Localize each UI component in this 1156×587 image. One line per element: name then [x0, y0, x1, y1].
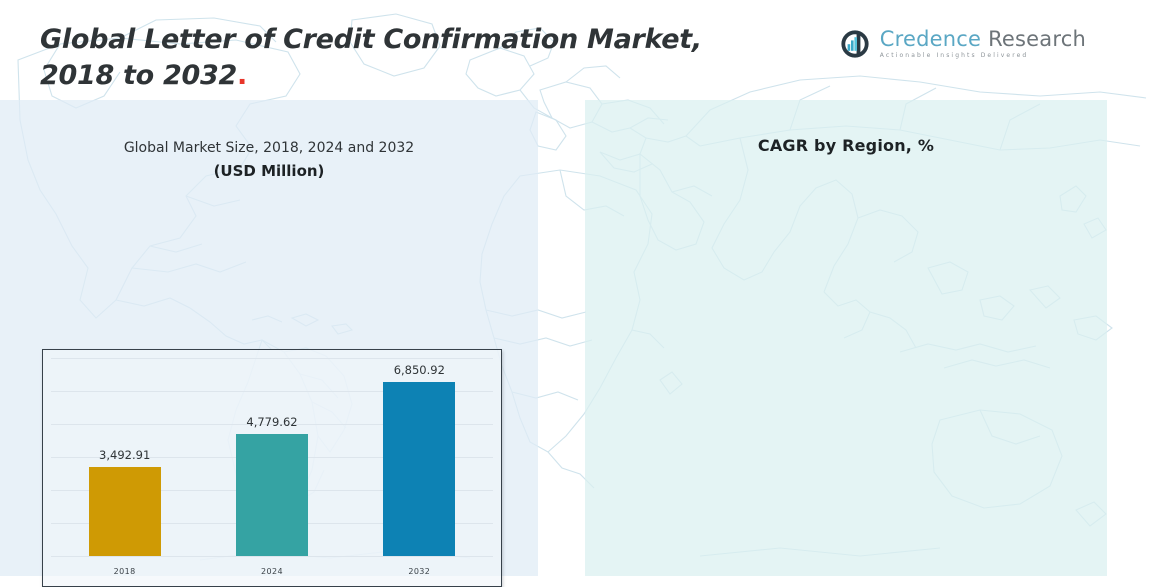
page-title-line-2-text: 2018 to 2032 [40, 60, 237, 91]
brand-name: Credence Research [880, 28, 1086, 51]
page-title: Global Letter of Credit Confirmation Mar… [40, 22, 760, 94]
x-tick-2032: 2032 [362, 567, 477, 576]
market-size-chart: 3,492.91 4,779.62 6,850.92 2018 2024 [42, 349, 502, 587]
left-chart-units: (USD Million) [0, 160, 538, 183]
bar-value-label: 4,779.62 [246, 415, 297, 429]
market-size-plot-area: 3,492.91 4,779.62 6,850.92 2018 2024 [43, 350, 501, 586]
bar-column-2018: 3,492.91 [67, 358, 182, 556]
left-chart-subtitle: Global Market Size, 2018, 2024 and 2032 [0, 138, 538, 159]
brand-logo[interactable]: Credence Research Actionable Insights De… [839, 28, 1086, 60]
bar-column-2032: 6,850.92 [362, 358, 477, 556]
title-period: . [237, 60, 247, 91]
brand-logo-text: Credence Research Actionable Insights De… [880, 28, 1086, 60]
left-panel-heading: Global Market Size, 2018, 2024 and 2032 … [0, 138, 538, 183]
page-title-line-1: Global Letter of Credit Confirmation Mar… [40, 22, 760, 58]
brand-name-second: Research [981, 27, 1086, 51]
bar-value-label: 6,850.92 [394, 363, 445, 377]
bar-column-2024: 4,779.62 [215, 358, 330, 556]
infographic-root: Global Market Size, 2018, 2024 and 2032 … [0, 0, 1156, 587]
bar-2018[interactable] [89, 467, 161, 556]
brand-name-first: Credence [880, 27, 981, 51]
right-panel-heading: CAGR by Region, % [585, 136, 1107, 155]
x-tick-2018: 2018 [67, 567, 182, 576]
bar-value-label: 3,492.91 [99, 448, 150, 462]
x-tick-2024: 2024 [215, 567, 330, 576]
bar-chart-circle-icon [839, 28, 871, 60]
page-title-line-2: 2018 to 2032. [40, 58, 760, 94]
left-panel: Global Market Size, 2018, 2024 and 2032 … [0, 100, 538, 576]
bar-2024[interactable] [236, 434, 308, 556]
market-size-bars: 3,492.91 4,779.62 6,850.92 [51, 358, 493, 556]
cagr-chart-title: CAGR by Region, % [585, 136, 1107, 155]
right-panel: CAGR by Region, % 1.0% 2.1% 2.7% 5. [585, 100, 1107, 576]
header: Global Letter of Credit Confirmation Mar… [0, 0, 1156, 96]
brand-tagline: Actionable Insights Delivered [880, 51, 1086, 60]
bar-2032[interactable] [383, 382, 455, 556]
market-size-x-axis: 2018 2024 2032 [51, 556, 493, 586]
